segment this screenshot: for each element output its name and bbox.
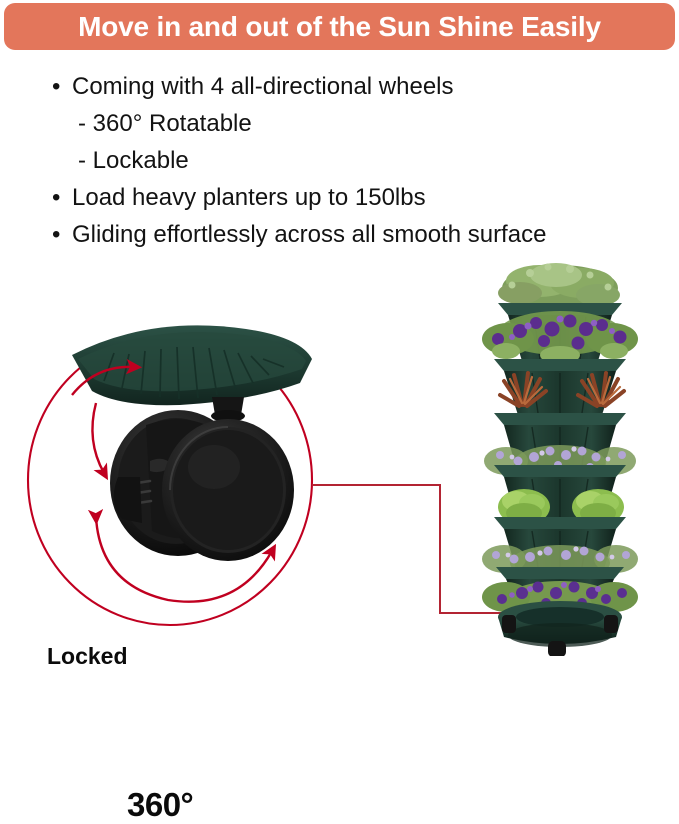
wheeled-base-tray	[498, 601, 622, 656]
feature-item: • Gliding effortlessly across all smooth…	[0, 216, 679, 253]
feature-label: Gliding effortlessly across all smooth s…	[72, 216, 546, 253]
bullet-marker: •	[52, 179, 72, 216]
feature-item: • Coming with 4 all-directional wheels	[0, 68, 679, 105]
bullet-marker: •	[52, 216, 72, 253]
locked-arrow-down-icon	[92, 403, 104, 473]
feature-item: • Load heavy planters up to 150lbs	[0, 179, 679, 216]
planter-underside-plate	[72, 325, 312, 422]
plant-purple-petunias	[482, 311, 638, 364]
bullet-marker: •	[52, 68, 72, 105]
feature-subitem: - Lockable	[0, 142, 679, 179]
dash-marker: -	[78, 147, 86, 174]
feature-subitem: - 360° Rotatable	[0, 105, 679, 142]
feature-label: Load heavy planters up to 150lbs	[72, 179, 426, 216]
caster-wheel-icon	[110, 410, 294, 561]
feature-sublabel-text: 360° Rotatable	[93, 110, 252, 137]
header-banner: Move in and out of the Sun Shine Easily	[4, 3, 675, 50]
feature-sublabel: - Lockable	[78, 142, 189, 179]
product-illustration: Locked 360°	[0, 255, 679, 656]
locked-label: Locked	[47, 643, 128, 670]
dash-marker: -	[78, 110, 86, 137]
feature-sublabel-text: Lockable	[93, 147, 189, 174]
tower-planter	[482, 263, 638, 656]
rotation-label: 360°	[127, 786, 193, 824]
feature-list: • Coming with 4 all-directional wheels -…	[0, 68, 679, 253]
banner-title: Move in and out of the Sun Shine Easily	[78, 13, 601, 41]
feature-label: Coming with 4 all-directional wheels	[72, 68, 454, 105]
feature-sublabel: - 360° Rotatable	[78, 105, 252, 142]
